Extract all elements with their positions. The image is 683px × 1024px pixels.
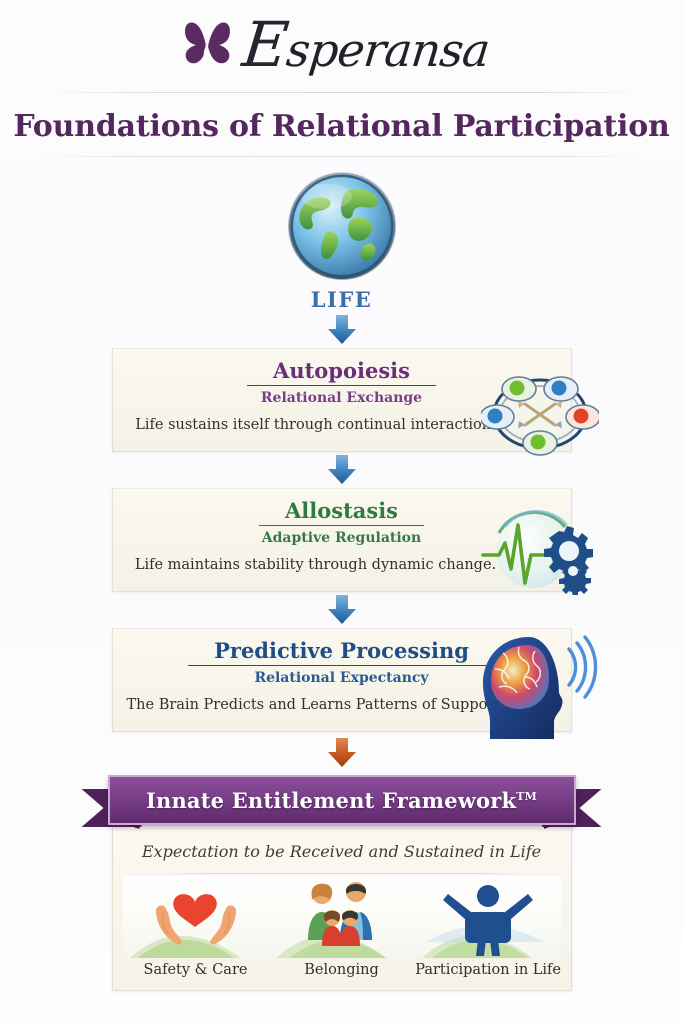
pillar-participation xyxy=(415,878,560,958)
infographic-poster: Esperansa Foundations of Relational Part… xyxy=(0,0,683,1024)
brain-head-icon xyxy=(473,631,609,741)
framework-banner-title: Innate Entitlement FrameworkTM xyxy=(146,788,537,813)
person-arms-raised-icon xyxy=(422,878,554,958)
brand-wordmark: Esperansa xyxy=(239,8,493,81)
framework-banner: Innate Entitlement FrameworkTM xyxy=(82,771,602,829)
network-exchange-icon xyxy=(481,371,599,457)
hands-holding-heart-icon xyxy=(130,878,262,958)
stage-card-autopoiesis: Autopoiesis Relational Exchange Life sus… xyxy=(112,348,572,452)
pillars-row xyxy=(123,876,561,958)
framework-subtitle: Expectation to be Received and Sustained… xyxy=(123,842,561,861)
trademark-symbol: TM xyxy=(516,790,537,803)
down-arrow-blue-icon xyxy=(325,315,359,345)
ribbon-plate: Innate Entitlement FrameworkTM xyxy=(108,775,576,825)
pillar-label-participation: Participation in Life xyxy=(415,962,560,978)
down-arrow-blue-icon xyxy=(325,595,359,625)
title-divider xyxy=(42,156,642,157)
butterfly-icon xyxy=(181,18,241,74)
down-arrow-blue-icon xyxy=(325,455,359,485)
life-source-block: LIFE xyxy=(0,167,683,312)
down-arrow-orange-icon xyxy=(325,738,359,768)
family-group-icon xyxy=(276,878,408,958)
framework-title-text: Innate Entitlement Framework xyxy=(146,788,516,813)
stage-title: Predictive Processing xyxy=(188,639,495,666)
brand-name-rest: speransa xyxy=(284,23,492,77)
pillar-label-belonging: Belonging xyxy=(269,962,414,978)
stage-card-allostasis: Allostasis Adaptive Regulation Life main… xyxy=(112,488,572,592)
framework-panel: Expectation to be Received and Sustained… xyxy=(112,825,572,991)
stage-title: Autopoiesis xyxy=(247,359,436,386)
pillar-labels-row: Safety & Care Belonging Participation in… xyxy=(123,958,561,980)
globe-icon xyxy=(283,167,401,285)
heartbeat-gears-icon xyxy=(481,499,593,595)
framework-divider xyxy=(147,873,537,874)
pillar-belonging xyxy=(269,878,414,958)
brand-header: Esperansa xyxy=(0,0,683,92)
life-label: LIFE xyxy=(311,287,373,312)
brand-lockup: Esperansa xyxy=(181,10,490,83)
stage-card-predictive-processing: Predictive Processing Relational Expecta… xyxy=(112,628,572,732)
page-title: Foundations of Relational Participation xyxy=(0,93,683,156)
pillar-label-safety-care: Safety & Care xyxy=(123,962,268,978)
stage-title: Allostasis xyxy=(259,499,424,526)
pillar-safety-care xyxy=(123,878,268,958)
